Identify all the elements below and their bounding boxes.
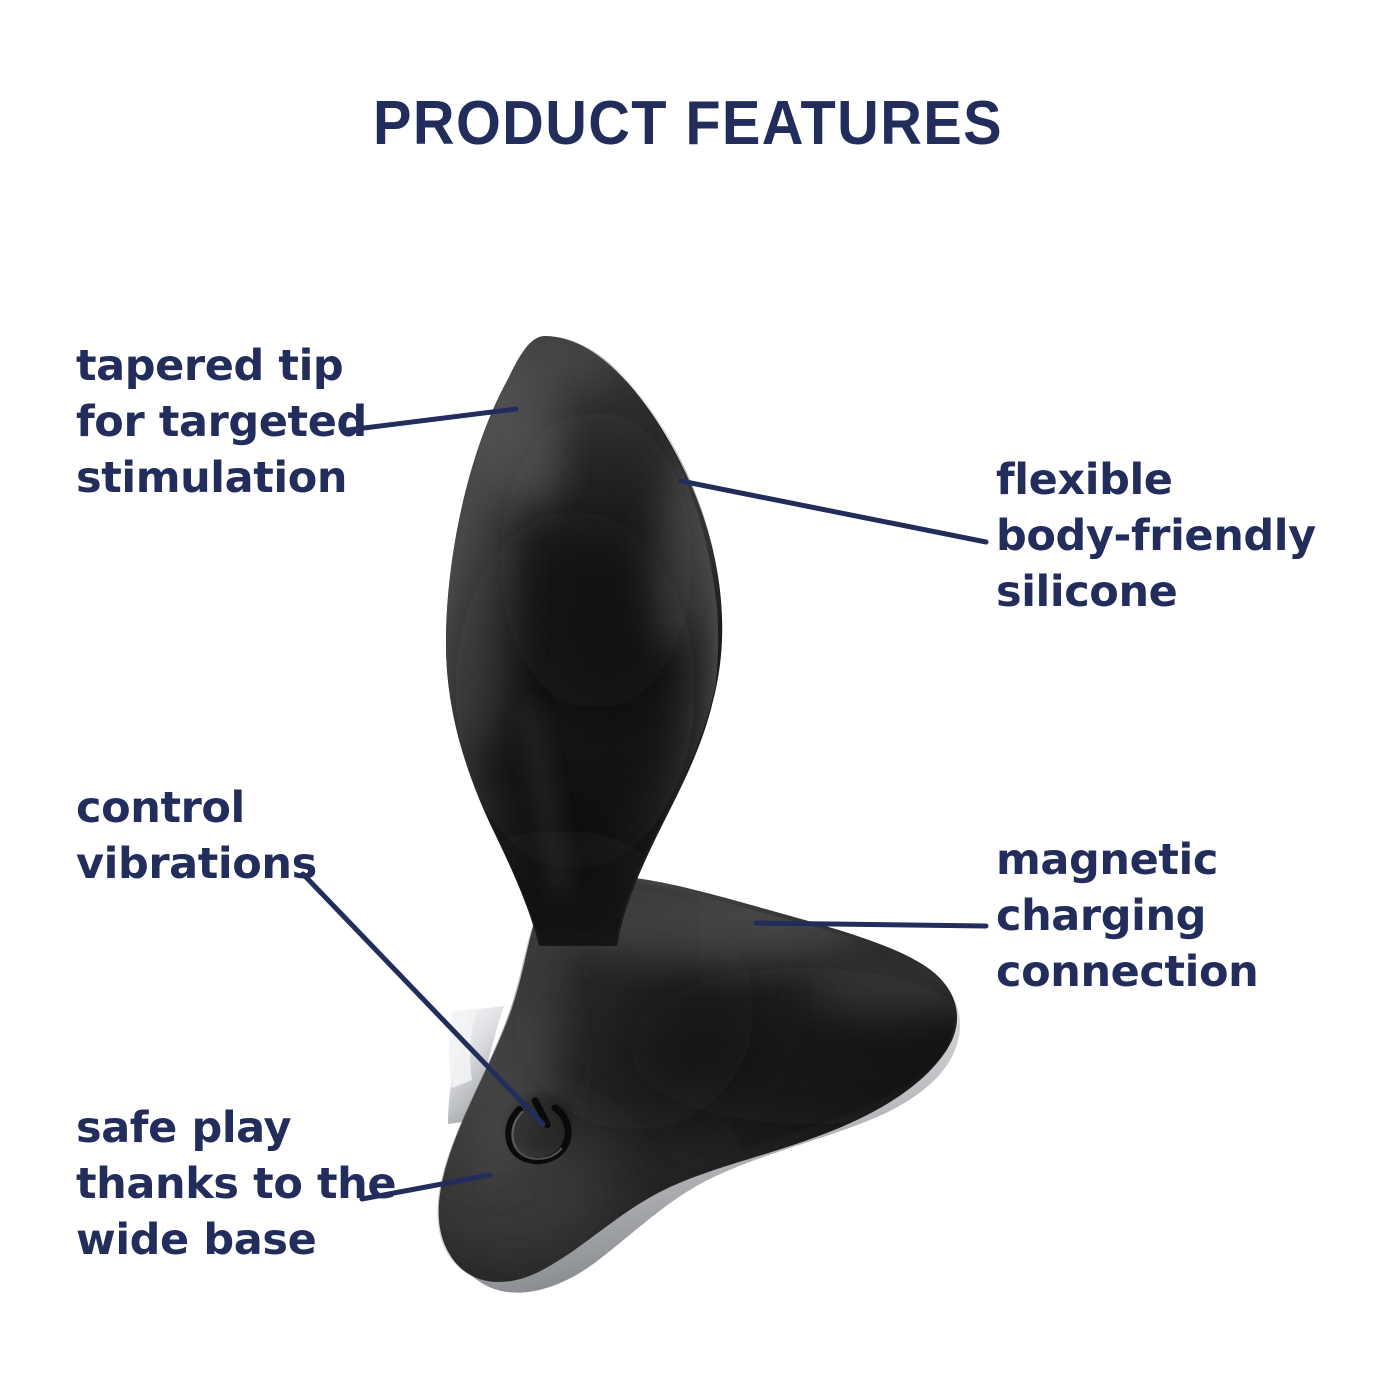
feature-label-line: thanks to the bbox=[76, 1156, 396, 1212]
feature-label-line: vibrations bbox=[76, 836, 317, 892]
feature-label-line: stimulation bbox=[76, 450, 367, 506]
feature-label-control-vibrations: control vibrations bbox=[76, 780, 317, 892]
feature-label-safe-play: safe play thanks to the wide base bbox=[76, 1100, 396, 1268]
feature-label-line: silicone bbox=[996, 564, 1316, 620]
leader-line-flexible-silicone bbox=[681, 481, 986, 542]
leader-line-magnetic-charging bbox=[756, 923, 986, 926]
feature-label-magnetic-charging: magnetic charging connection bbox=[996, 832, 1258, 1000]
feature-label-line: for targeted bbox=[76, 394, 367, 450]
feature-label-flexible-silicone: flexible body-friendly silicone bbox=[996, 452, 1316, 620]
feature-label-line: charging bbox=[996, 888, 1258, 944]
feature-label-line: control bbox=[76, 780, 317, 836]
product-features-infographic: PRODUCT FEATURES bbox=[0, 0, 1376, 1376]
product-body bbox=[424, 317, 986, 1292]
feature-label-line: body-friendly bbox=[996, 508, 1316, 564]
feature-label-line: safe play bbox=[76, 1100, 396, 1156]
feature-label-line: connection bbox=[996, 944, 1258, 1000]
feature-label-tapered-tip: tapered tip for targeted stimulation bbox=[76, 338, 367, 506]
leader-line-control-vibrations bbox=[303, 874, 543, 1124]
feature-label-line: tapered tip bbox=[76, 338, 367, 394]
feature-label-line: magnetic bbox=[996, 832, 1258, 888]
feature-label-line: wide base bbox=[76, 1212, 396, 1268]
feature-label-line: flexible bbox=[996, 452, 1316, 508]
